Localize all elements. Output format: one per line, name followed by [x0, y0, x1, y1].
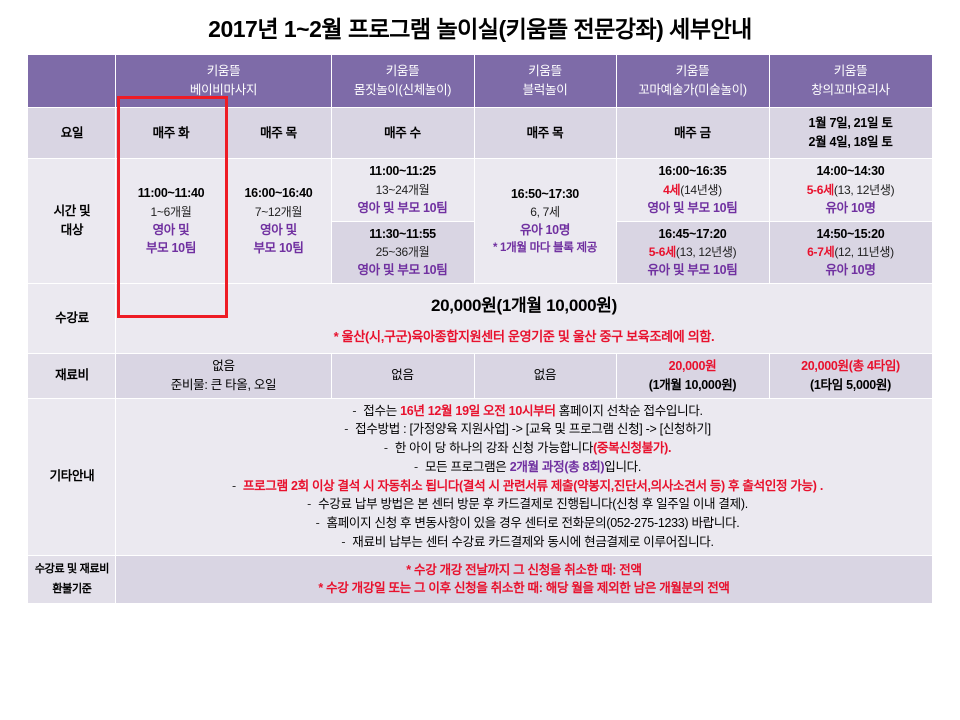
time-text: 16:00~16:35 [621, 162, 765, 181]
day-cell-block-play: 매주 목 [474, 108, 616, 159]
day-cell-art: 매주 금 [616, 108, 769, 159]
row-label-refund: 수강료 및 재료비 환불기준 [28, 555, 116, 604]
header-program-cooking: 키움뜰 창의꼬마요리사 [769, 55, 932, 108]
age-rest: (13, 12년생) [676, 245, 736, 259]
target-text: 영아 및 부모 10팀 [621, 199, 765, 218]
refund-policy-line: * 수강 개강일 또는 그 이후 신청을 취소한 때: 해당 월을 제외한 남은… [120, 579, 927, 598]
schedule-table: 키움뜰 베이비마사지 키움뜰 몸짓놀이(신체놀이) 키움뜰 블럭놀이 키움뜰 꼬… [27, 54, 932, 604]
age-text: 5-6세(13, 12년생) [621, 243, 765, 261]
program-title-line2: 베이비마사지 [120, 81, 326, 100]
target-text: 유아 및 부모 10팀 [621, 261, 765, 280]
cell-block-play: 16:50~17:30 6, 7세 유아 10명 * 1개월 마다 블록 제공 [474, 159, 616, 284]
note-text-segment: 수강료 납부 방법은 본 센터 방문 후 카드결제로 진행됩니다(신청 후 일주… [318, 497, 748, 511]
note-bullet-dash: - [377, 439, 395, 458]
note-item: -한 아이 당 하나의 강좌 신청 가능합니다(중복신청불가). [120, 439, 927, 458]
note-item: -수강료 납부 방법은 본 센터 방문 후 카드결제로 진행됩니다(신청 후 일… [120, 495, 927, 514]
time-text: 11:00~11:40 [120, 184, 221, 203]
note-bullet-dash: - [334, 533, 352, 552]
row-label-material-fee: 재료비 [28, 354, 116, 399]
age-text: 13~24개월 [336, 181, 470, 199]
age-highlight: 4세 [663, 183, 680, 197]
program-title-line2: 꼬마예술가(미술놀이) [621, 81, 765, 100]
target-text: 유아 10명 [774, 261, 928, 280]
day-cell-cooking-line2: 2월 4일, 18일 토 [774, 133, 928, 152]
note-bullet-dash: - [309, 514, 327, 533]
notes-list: -접수는 16년 12월 19일 오전 10시부터 홈페이지 선착순 접수입니다… [116, 398, 932, 555]
row-label-time-target: 시간 및 대상 [28, 159, 116, 284]
refund-row: 수강료 및 재료비 환불기준 * 수강 개강 전날까지 그 신청을 취소한 때:… [28, 555, 932, 604]
note-text-segment: (중복신청불가). [593, 441, 671, 455]
time-text: 16:50~17:30 [479, 185, 612, 204]
note-item: -홈페이지 신청 후 변동사항이 있을 경우 센터로 전화문의(052-275-… [120, 514, 927, 533]
note-text-segment: 접수는 [363, 404, 400, 418]
age-text: 4세(14년생) [621, 181, 765, 199]
note-text-segment: 접수방법 : [가정양육 지원사업] -> [교육 및 프로그램 신청] -> … [355, 422, 711, 436]
tuition-value-cell: 20,000원(1개월 10,000원) * 울산(시,구군)육아종합지원센터 … [116, 284, 932, 354]
day-cell-body-play: 매주 수 [331, 108, 474, 159]
cell-body-play-slot1: 11:00~11:25 13~24개월 영아 및 부모 10팀 [331, 159, 474, 222]
time-text: 16:00~16:40 [230, 184, 326, 203]
note-item: -프로그램 2회 이상 결석 시 자동취소 됩니다(결석 시 관련서류 제출(약… [120, 477, 927, 496]
page-title: 2017년 1~2월 프로그램 놀이실(키움뜰 전문강좌) 세부안내 [0, 0, 960, 54]
note-bullet-dash: - [337, 420, 355, 439]
note-bullet-dash: - [345, 402, 363, 421]
material-value-line2: 준비물: 큰 타올, 오일 [120, 376, 326, 395]
target-text: 유아 10명 [774, 199, 928, 218]
refund-policy-line: * 수강 개강 전날까지 그 신청을 취소한 때: 전액 [120, 561, 927, 580]
age-rest: (13, 12년생) [834, 183, 894, 197]
row-label-notes: 기타안내 [28, 398, 116, 555]
material-block-play: 없음 [474, 354, 616, 399]
material-value-line2: (1개월 10,000원) [621, 376, 765, 395]
age-highlight: 5-6세 [807, 183, 834, 197]
cell-art-slot1: 16:00~16:35 4세(14년생) 영아 및 부모 10팀 [616, 159, 769, 222]
material-baby-massage: 없음 준비물: 큰 타올, 오일 [116, 354, 331, 399]
target-text-line1: 영아 및 [120, 221, 221, 240]
notes-row: 기타안내 -접수는 16년 12월 19일 오전 10시부터 홈페이지 선착순 … [28, 398, 932, 555]
material-body-play: 없음 [331, 354, 474, 399]
note-text-segment: 입니다. [604, 460, 641, 474]
note-item: -모든 프로그램은 2개월 과정(총 8회)입니다. [120, 458, 927, 477]
block-supply-note: * 1개월 마다 블록 제공 [479, 240, 612, 257]
note-item: -접수방법 : [가정양육 지원사업] -> [교육 및 프로그램 신청] ->… [120, 420, 927, 439]
note-text-segment: 재료비 납부는 센터 수강료 카드결제와 동시에 현금결제로 이루어집니다. [352, 535, 713, 549]
row-label-time-target-line1: 시간 및 [32, 202, 111, 221]
target-text-line2: 부모 10팀 [230, 239, 326, 258]
program-title-line1: 키움뜰 [621, 62, 765, 81]
note-text-segment: 16년 12월 19일 오전 10시부터 [400, 404, 556, 418]
material-value-line2: (1타임 5,000원) [774, 376, 928, 395]
row-label-time-target-line2: 대상 [32, 221, 111, 240]
program-title-line2: 몸짓놀이(신체놀이) [336, 81, 470, 100]
row-label-refund-line1: 수강료 및 재료비 [32, 559, 111, 580]
table-header-row: 키움뜰 베이비마사지 키움뜰 몸짓놀이(신체놀이) 키움뜰 블럭놀이 키움뜰 꼬… [28, 55, 932, 108]
day-cell-baby-massage-tue: 매주 화 [116, 108, 226, 159]
age-text: 6, 7세 [479, 203, 612, 221]
age-text: 25~36개월 [336, 243, 470, 261]
day-cell-baby-massage-thu: 매주 목 [226, 108, 331, 159]
tuition-note: * 울산(시,구군)육아종합지원센터 운영기준 및 울산 중구 보육조례에 의함… [120, 319, 927, 351]
header-program-baby-massage: 키움뜰 베이비마사지 [116, 55, 331, 108]
note-item: -접수는 16년 12월 19일 오전 10시부터 홈페이지 선착순 접수입니다… [120, 402, 927, 421]
refund-policy-cell: * 수강 개강 전날까지 그 신청을 취소한 때: 전액 * 수강 개강일 또는… [116, 555, 932, 604]
age-highlight: 6-7세 [807, 245, 834, 259]
material-value-line1: 없음 [120, 357, 326, 376]
note-text-segment: 홈페이지 선착순 접수입니다. [556, 404, 703, 418]
note-text-segment: 홈페이지 신청 후 변동사항이 있을 경우 센터로 전화문의(052-275-1… [327, 516, 740, 530]
time-text: 16:45~17:20 [621, 225, 765, 244]
note-text-segment: 2개월 과정(총 8회) [510, 460, 605, 474]
header-program-block-play: 키움뜰 블럭놀이 [474, 55, 616, 108]
time-target-row-upper: 시간 및 대상 11:00~11:40 1~6개월 영아 및 부모 10팀 16… [28, 159, 932, 222]
target-text: 영아 및 부모 10팀 [336, 199, 470, 218]
note-bullet-dash: - [225, 477, 243, 496]
program-title-line1: 키움뜰 [479, 62, 612, 81]
day-cell-cooking: 1월 7일, 21일 토 2월 4일, 18일 토 [769, 108, 932, 159]
age-rest: (14년생) [680, 183, 722, 197]
note-bullet-dash: - [407, 458, 425, 477]
note-text-segment: 모든 프로그램은 [425, 460, 510, 474]
cell-cooking-slot1: 14:00~14:30 5-6세(13, 12년생) 유아 10명 [769, 159, 932, 222]
target-text-line2: 부모 10팀 [120, 239, 221, 258]
time-text: 11:30~11:55 [336, 225, 470, 244]
target-text-line1: 영아 및 [230, 221, 326, 240]
target-text: 영아 및 부모 10팀 [336, 261, 470, 280]
time-text: 11:00~11:25 [336, 162, 470, 181]
material-cooking: 20,000원(총 4타임) (1타임 5,000원) [769, 354, 932, 399]
note-text-segment: 프로그램 2회 이상 결석 시 자동취소 됩니다(결석 시 관련서류 제출(약봉… [243, 479, 823, 493]
time-text: 14:00~14:30 [774, 162, 928, 181]
program-title-line1: 키움뜰 [774, 62, 928, 81]
cell-cooking-slot2: 14:50~15:20 6-7세(12, 11년생) 유아 10명 [769, 221, 932, 284]
material-value-line1: 20,000원(총 4타임) [774, 357, 928, 376]
header-program-body-play: 키움뜰 몸짓놀이(신체놀이) [331, 55, 474, 108]
material-fee-row: 재료비 없음 준비물: 큰 타올, 오일 없음 없음 20,000원 (1개월 … [28, 354, 932, 399]
header-blank-cell [28, 55, 116, 108]
cell-baby-massage-tue: 11:00~11:40 1~6개월 영아 및 부모 10팀 [116, 159, 226, 284]
material-value-line1: 20,000원 [621, 357, 765, 376]
note-text-segment: 한 아이 당 하나의 강좌 신청 가능합니다 [395, 441, 593, 455]
program-title-line1: 키움뜰 [120, 62, 326, 81]
header-program-art: 키움뜰 꼬마예술가(미술놀이) [616, 55, 769, 108]
note-item: -재료비 납부는 센터 수강료 카드결제와 동시에 현금결제로 이루어집니다. [120, 533, 927, 552]
cell-baby-massage-thu: 16:00~16:40 7~12개월 영아 및 부모 10팀 [226, 159, 331, 284]
program-title-line1: 키움뜰 [336, 62, 470, 81]
program-schedule-page: 2017년 1~2월 프로그램 놀이실(키움뜰 전문강좌) 세부안내 키움뜰 베… [0, 0, 960, 720]
age-highlight: 5-6세 [649, 245, 676, 259]
target-text: 유아 10명 [479, 221, 612, 240]
row-label-day: 요일 [28, 108, 116, 159]
tuition-row: 수강료 20,000원(1개월 10,000원) * 울산(시,구군)육아종합지… [28, 284, 932, 354]
time-text: 14:50~15:20 [774, 225, 928, 244]
day-of-week-row: 요일 매주 화 매주 목 매주 수 매주 목 매주 금 1월 7일, 21일 토… [28, 108, 932, 159]
age-text: 7~12개월 [230, 203, 326, 221]
row-label-refund-line2: 환불기준 [32, 579, 111, 600]
cell-art-slot2: 16:45~17:20 5-6세(13, 12년생) 유아 및 부모 10팀 [616, 221, 769, 284]
day-cell-cooking-line1: 1월 7일, 21일 토 [774, 114, 928, 133]
program-title-line2: 창의꼬마요리사 [774, 81, 928, 100]
age-rest: (12, 11년생) [834, 245, 894, 259]
material-art: 20,000원 (1개월 10,000원) [616, 354, 769, 399]
row-label-tuition: 수강료 [28, 284, 116, 354]
age-text: 1~6개월 [120, 203, 221, 221]
program-title-line2: 블럭놀이 [479, 81, 612, 100]
cell-body-play-slot2: 11:30~11:55 25~36개월 영아 및 부모 10팀 [331, 221, 474, 284]
age-text: 6-7세(12, 11년생) [774, 243, 928, 261]
age-text: 5-6세(13, 12년생) [774, 181, 928, 199]
note-bullet-dash: - [300, 495, 318, 514]
tuition-amount: 20,000원(1개월 10,000원) [120, 287, 927, 319]
